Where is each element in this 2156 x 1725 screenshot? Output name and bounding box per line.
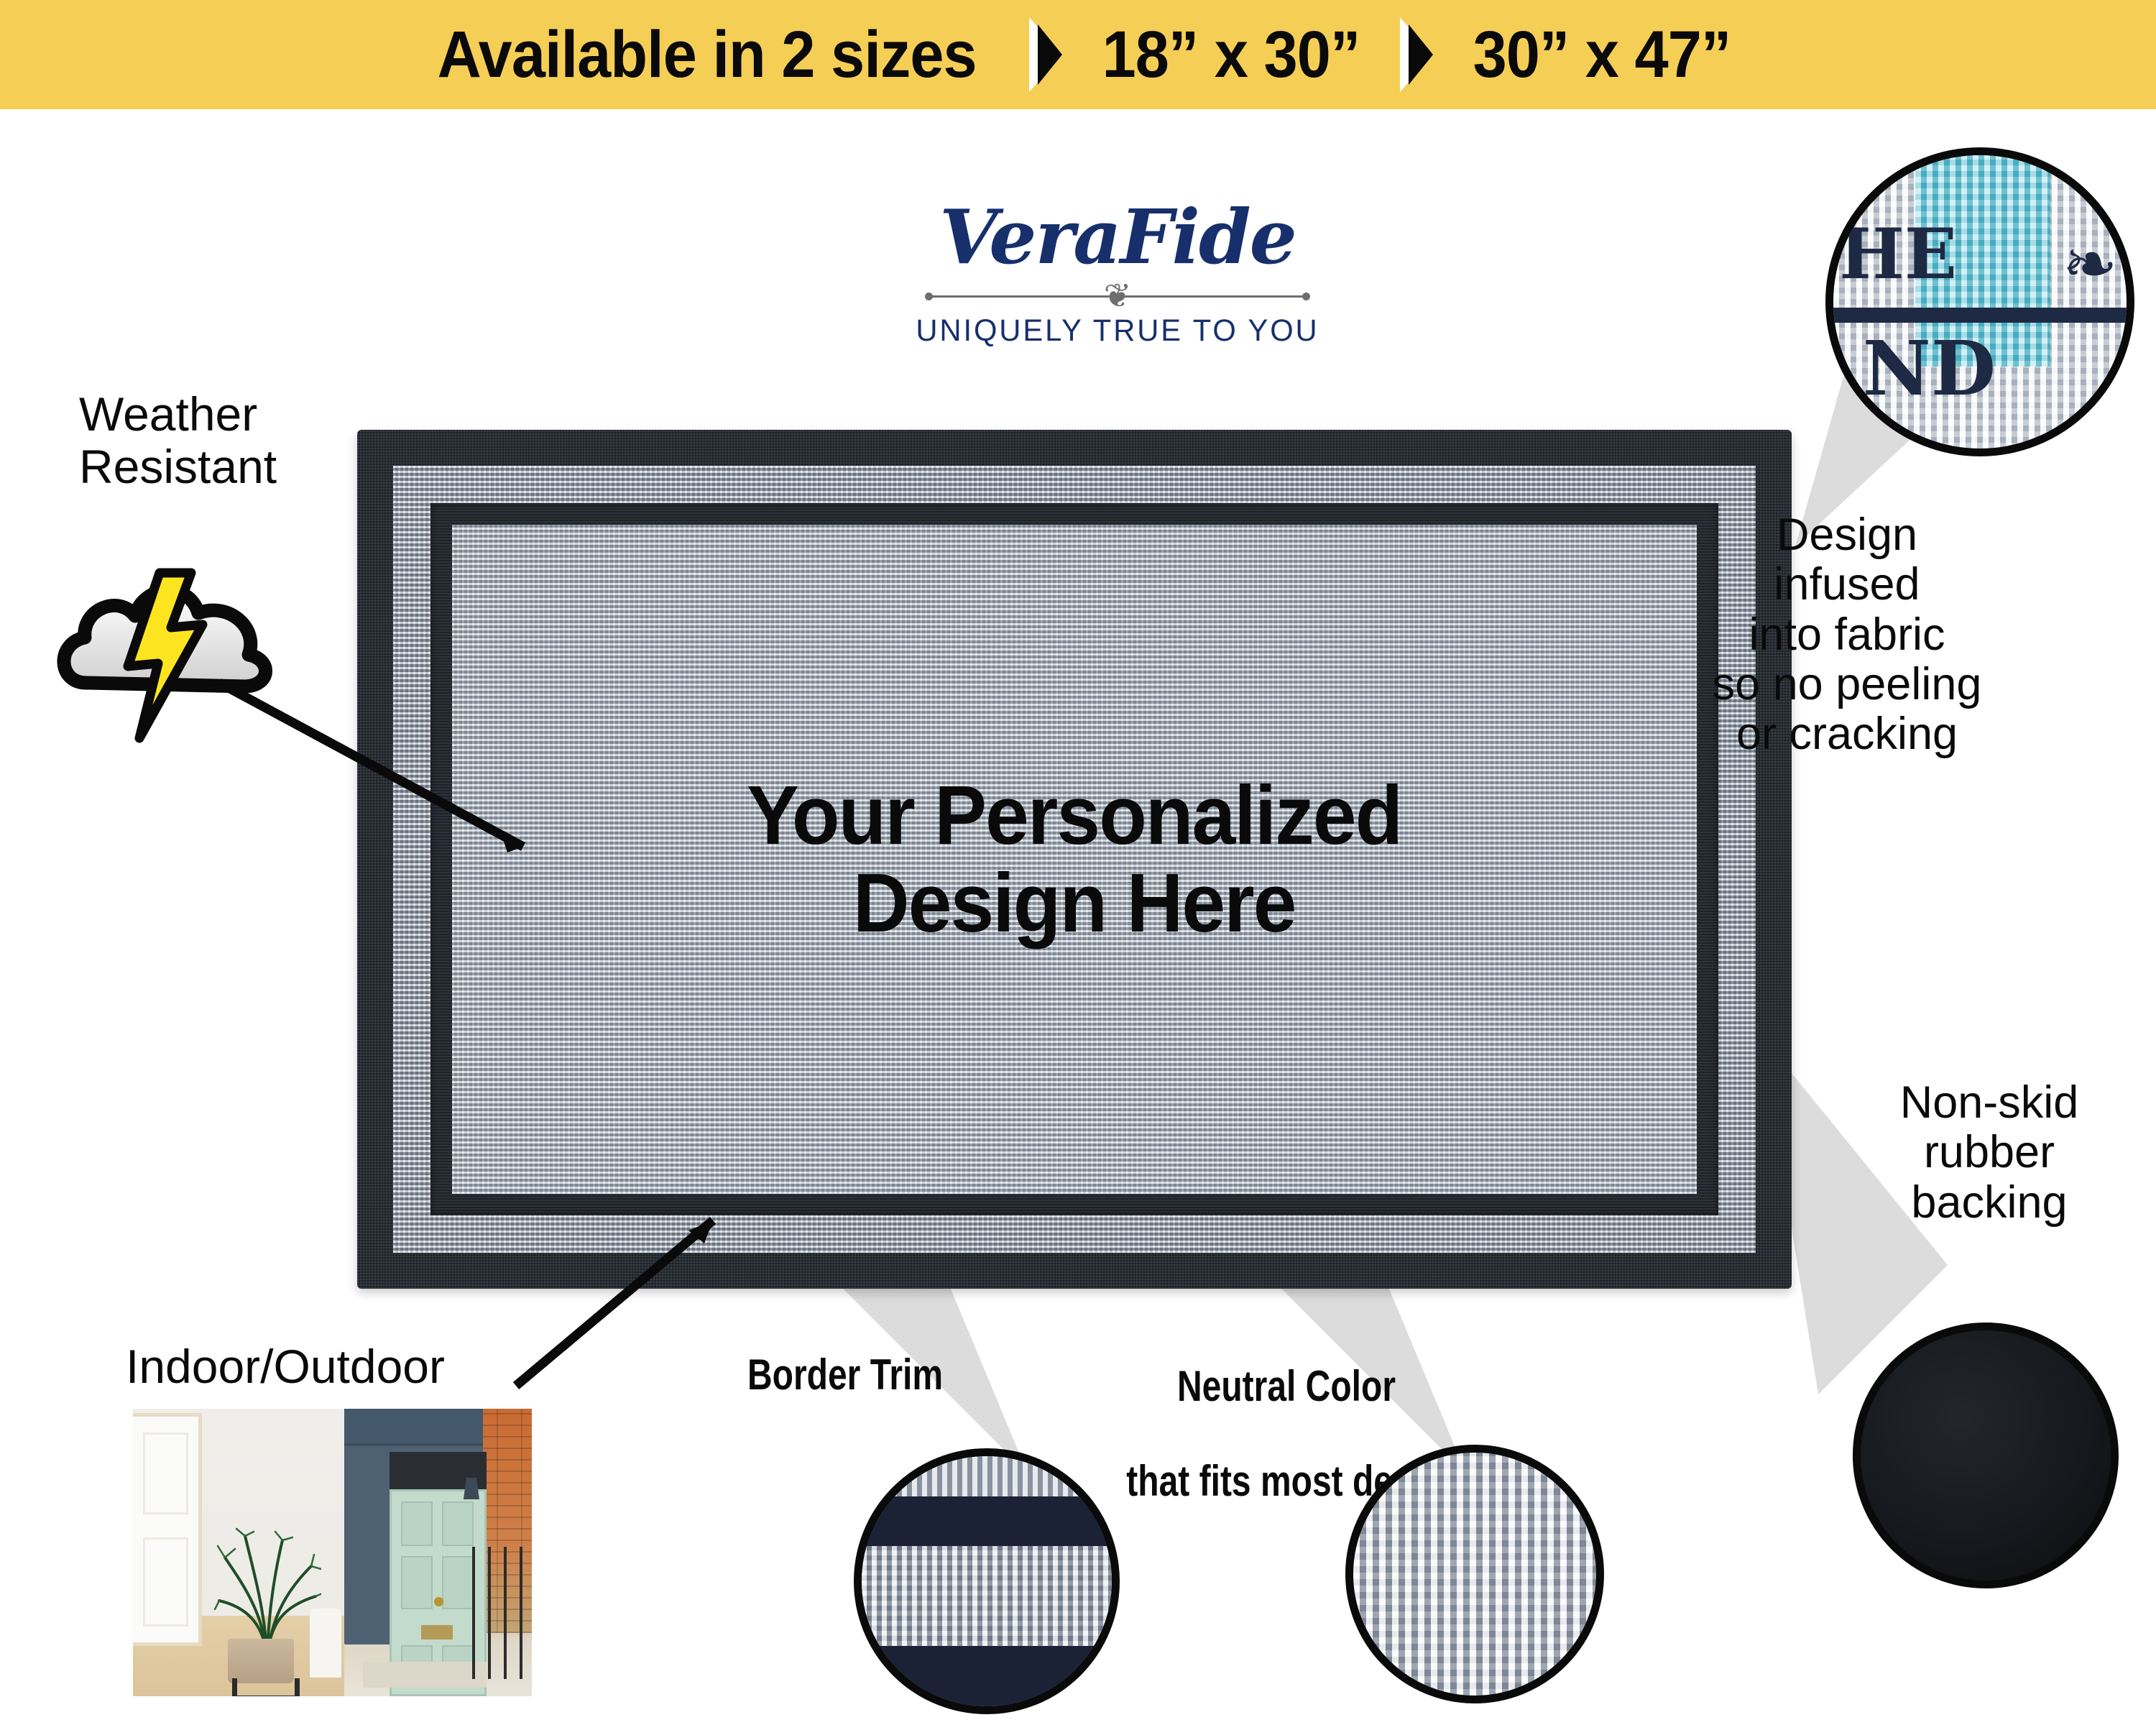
flourish-ornament-icon: ❦ [902, 279, 1333, 312]
circle-letters-top: HE [1839, 220, 1957, 289]
pointer-line-indoor-outdoor [503, 1215, 719, 1394]
scroll-flourish-icon: ❧ [2063, 231, 2118, 298]
mat-text-line-2: Design Here [747, 860, 1401, 947]
brand-name: VeraFide [902, 198, 1333, 276]
trim-rubber-band-lower [862, 1646, 1112, 1706]
indoor-outdoor-label: Indoor/Outdoor [126, 1340, 445, 1393]
size-banner: Available in 2 sizes 18” x 30” 30” x 47” [0, 0, 2156, 109]
neutral-color-line-1: Neutral Color [1085, 1363, 1488, 1410]
brand-logo: VeraFide ❦ UNIQUELY TRUE TO YOU [902, 198, 1333, 349]
navy-divider-bar [1833, 308, 2127, 322]
letter-plate [421, 1625, 453, 1639]
triangle-right-arrow-icon [1029, 17, 1062, 92]
indoor-scene [133, 1409, 344, 1696]
size-option-1: 18” x 30” [1102, 22, 1360, 88]
border-trim-circle [854, 1448, 1120, 1714]
mat-text-line-1: Your Personalized [747, 772, 1401, 860]
trim-weave-band-top [862, 1456, 1112, 1496]
indoor-outdoor-photo [133, 1409, 532, 1696]
triangle-right-arrow-icon [1400, 17, 1433, 92]
border-trim-label: Border Trim [747, 1351, 943, 1399]
neutral-weave-circle [1345, 1445, 1604, 1703]
weather-resistant-label: Weather Resistant [79, 388, 277, 492]
side-table [310, 1609, 341, 1678]
outdoor-scene [344, 1409, 532, 1696]
mat-design-field: Your Personalized Design Here [452, 525, 1697, 1194]
doormat-product-image: Your Personalized Design Here [357, 430, 1792, 1289]
rubber-backing-circle [1853, 1322, 2119, 1588]
brand-tagline: UNIQUELY TRUE TO YOU [908, 313, 1327, 349]
plant-pot [228, 1639, 294, 1683]
non-skid-backing-label: Non-skid rubber backing [1846, 1078, 2133, 1228]
door-panel [401, 1501, 433, 1546]
mat-outer-weave-band: Your Personalized Design Here [393, 466, 1756, 1253]
trim-rubber-band-upper [862, 1496, 1112, 1547]
circle-letters-bottom: ND [1863, 331, 1996, 406]
door-panel [401, 1556, 433, 1609]
logo-ornament-divider: ❦ [902, 283, 1333, 309]
banner-headline: Available in 2 sizes [438, 22, 977, 88]
door-panel [442, 1501, 474, 1546]
trim-weave-band-middle [862, 1546, 1112, 1646]
door-knob-icon [434, 1597, 443, 1606]
infographic-page: Available in 2 sizes 18” x 30” 30” x 47”… [0, 0, 2156, 1725]
design-infused-label: Design infused into fabric so no peeling… [1703, 510, 1991, 759]
mat-placeholder-text: Your Personalized Design Here [747, 772, 1401, 947]
door-panel [442, 1556, 474, 1609]
fabric-closeup-circle: HE ND ❧ [1825, 147, 2134, 456]
door-cornice [344, 1409, 483, 1446]
door-step [363, 1662, 487, 1688]
iron-railing [472, 1547, 528, 1679]
size-option-2: 30” x 47” [1473, 22, 1731, 88]
white-interior-door [133, 1413, 202, 1646]
mat-inner-border-trim: Your Personalized Design Here [430, 503, 1718, 1215]
pointer-line-weather [216, 668, 532, 855]
